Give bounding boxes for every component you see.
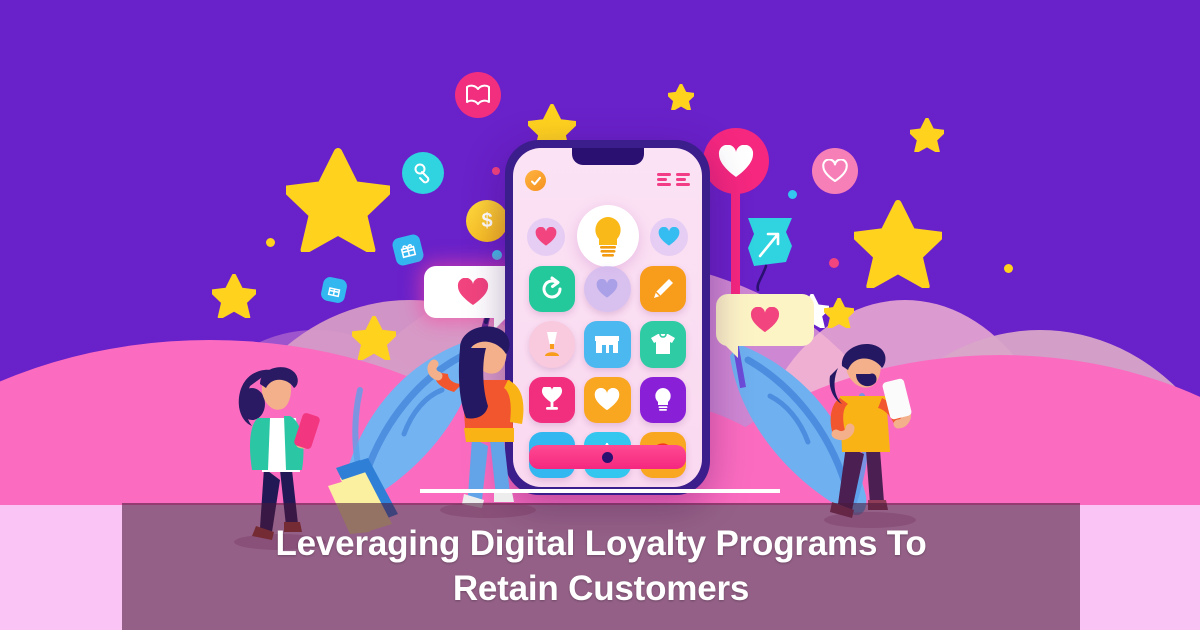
tshirt-icon: [649, 332, 677, 356]
star-large-left: [286, 148, 390, 252]
star-small-4: [352, 316, 396, 360]
heart-icon: [457, 278, 489, 307]
dollar-icon: $: [481, 210, 492, 233]
title-divider-rule: [420, 489, 780, 493]
coin-badge[interactable]: $: [466, 200, 508, 242]
shield-arrow-badge[interactable]: [744, 212, 796, 296]
edit-app[interactable]: [640, 266, 686, 312]
heart-icon: [594, 388, 620, 412]
heart-app[interactable]: [584, 266, 630, 312]
star-white-2: [824, 298, 854, 328]
heart-icon: [750, 307, 780, 334]
list-menu-icon[interactable]: [657, 173, 690, 186]
star-small-3: [212, 274, 256, 318]
store-app[interactable]: [584, 321, 630, 367]
gift-icon: [398, 240, 417, 259]
check-icon: [530, 175, 542, 187]
dot-yellow-2: [1004, 264, 1013, 273]
dot-cyan-2: [788, 190, 797, 199]
heart-pin-icon: [718, 145, 754, 178]
pencil-icon: [650, 276, 676, 302]
idea-app[interactable]: [640, 377, 686, 423]
lightbulb-icon: [652, 387, 674, 413]
menu-group-2: [676, 173, 690, 186]
shirt-app[interactable]: [640, 321, 686, 367]
page-title-line-2: Retain Customers: [443, 567, 759, 612]
lightbulb-icon: [590, 215, 626, 257]
heart-blue-icon-wrap: [650, 218, 688, 256]
dot-pink-1: [492, 167, 500, 175]
heart-icon: [596, 279, 618, 299]
tag-badge[interactable]: [402, 152, 444, 194]
phone-notch: [572, 148, 644, 165]
character-woman-center: [424, 318, 554, 518]
heart-pink-icon: [535, 227, 557, 247]
book-badge[interactable]: [455, 72, 501, 118]
dot-pink-2: [829, 258, 839, 268]
favorite-app[interactable]: [584, 377, 630, 423]
star-small-2: [668, 84, 694, 110]
like-bubble-right[interactable]: [716, 294, 814, 346]
lightbulb-feature[interactable]: [577, 205, 639, 267]
price-tag-icon: [411, 161, 435, 185]
character-man-right: [812, 338, 932, 528]
heart-outline-badge[interactable]: [812, 148, 858, 194]
open-book-icon: [465, 84, 491, 106]
home-dot[interactable]: [602, 452, 613, 463]
refresh-app[interactable]: [529, 266, 575, 312]
heart-pink-icon-wrap: [527, 218, 565, 256]
heart-outline-icon: [822, 159, 848, 183]
illustration-canvas: $: [0, 0, 1200, 630]
check-badge[interactable]: [525, 170, 546, 191]
gift-icon: [326, 282, 341, 297]
dot-yellow-1: [266, 238, 275, 247]
storefront-icon: [593, 332, 621, 356]
menu-group-1: [657, 173, 671, 186]
heart-blue-icon: [658, 227, 680, 247]
star-right-large: [854, 200, 942, 288]
page-title-line-1: Leveraging Digital Loyalty Programs To: [265, 522, 936, 567]
dot-cyan-1: [492, 250, 502, 260]
pin-heart-badge[interactable]: [703, 128, 769, 194]
title-overlay: Leveraging Digital Loyalty Programs To R…: [122, 503, 1080, 630]
refresh-icon: [539, 276, 565, 302]
bubble-right-tail: [722, 342, 738, 358]
star-top-right: [910, 118, 944, 152]
